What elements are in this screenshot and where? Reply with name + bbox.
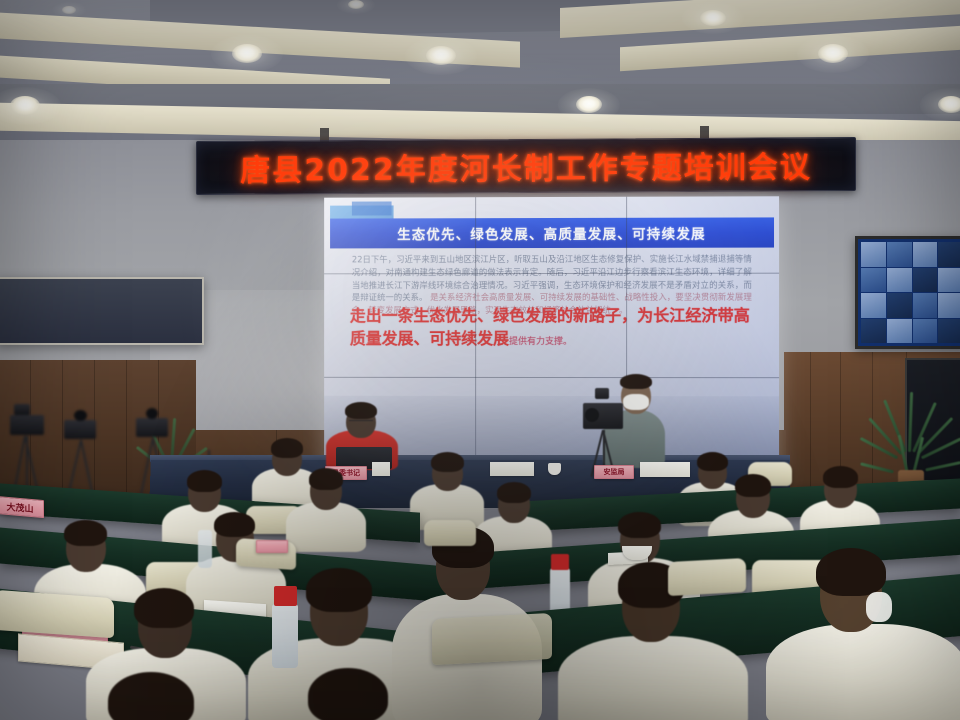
ceiling-light-icon [62,6,76,14]
cctv-tile [861,293,886,318]
led-banner: 唐县2022年度河长制工作专题培训会议 [196,137,856,195]
person-hair [497,482,531,503]
person-hair [816,548,886,596]
person-hair [108,672,194,720]
cctv-multiview-monitor [855,236,960,349]
chair [424,520,476,546]
person-hair [697,452,728,471]
attendee [286,468,366,548]
tea-cup [548,463,561,475]
person-hair [134,588,194,628]
person-hair [735,474,771,497]
cctv-tile [913,268,938,293]
cctv-tile [861,319,886,344]
cctv-tile [913,293,938,318]
cctv-tile [887,242,912,267]
person-hair [187,470,222,492]
conference-room-photo: 唐县2022年度河长制工作专题培训会议 生态优先、绿色发展、高质量发展、可持续发… [0,0,960,720]
cctv-tile [861,268,886,293]
cctv-tile [887,268,912,293]
person-torso [558,636,748,720]
ceiling-light-icon [700,10,726,26]
name-plate-mid [256,540,288,553]
ceiling-light-icon [348,0,364,9]
cctv-tile [938,319,960,344]
person-hair [214,512,255,537]
cctv-tile [938,242,960,267]
slide-title: 生态优先、绿色发展、高质量发展、可持续发展 [330,217,774,248]
person-hair [64,520,107,546]
slide-highlight: 走出一条生态优先、绿色发展的新路子，为长江经济带高质量发展、可持续发展提供有力支… [350,305,760,351]
name-plate-label: 安监局 [604,467,625,477]
person-hair [823,466,858,488]
person-hair [620,374,652,389]
water-bottle [272,604,298,668]
ceiling-light-icon [938,96,960,113]
attendee-front-edge [284,668,424,720]
person-glasses-icon [349,420,373,425]
person-hair [308,668,388,720]
attendee-foreground-masked [766,556,960,720]
ceiling-light-icon [818,44,848,63]
cctv-tile [887,319,912,344]
chair [432,613,552,665]
ceiling-light-icon [10,96,40,115]
cctv-tile [861,242,886,267]
name-plate-label: 大茂山 [6,499,33,514]
wall-monitor-left [0,277,204,345]
person-hair [618,512,661,538]
ceiling-light-icon [576,96,602,113]
paper-sheet [490,462,534,476]
person-torso [766,624,960,720]
name-plate-daomaoshan: 大茂山 [0,496,44,518]
camera-lens-icon [146,408,158,419]
bottle-cap [274,586,297,606]
chair [668,558,746,596]
video-camera-icon [136,418,168,437]
person-hair [306,568,372,612]
video-camera-icon [10,415,44,435]
cctv-grid [861,242,960,343]
face-mask-icon [623,394,649,410]
video-camera-hood [14,404,30,415]
camera-lens-icon [585,408,599,422]
camera-lens-icon [74,410,87,421]
cctv-tile [913,242,938,267]
person-hair [309,468,343,490]
video-camera-icon [64,420,96,439]
ceiling-light-icon [426,46,456,65]
slide-decor-block [352,201,392,215]
cctv-tile [913,319,938,344]
attendee [410,452,484,524]
person-hair [431,452,464,472]
water-bottle [198,530,212,568]
person-hair [271,438,303,458]
person-hair [345,402,377,419]
ceiling [0,0,960,150]
head-table-name-plate-2: 安监局 [594,465,634,479]
face-mask-icon [866,592,892,622]
paper-sheet [372,462,390,476]
camera-viewfinder [595,388,609,399]
cctv-tile [938,293,960,318]
led-banner-text: 唐县2022年度河长制工作专题培训会议 [196,142,856,190]
bottle-cap [551,554,569,570]
cctv-tile [887,293,912,318]
ceiling-light-icon [232,44,262,63]
attendee-front-edge [78,672,228,720]
slide-highlight-tail: 提供有力支撑。 [509,337,572,347]
cctv-tile [938,268,960,293]
